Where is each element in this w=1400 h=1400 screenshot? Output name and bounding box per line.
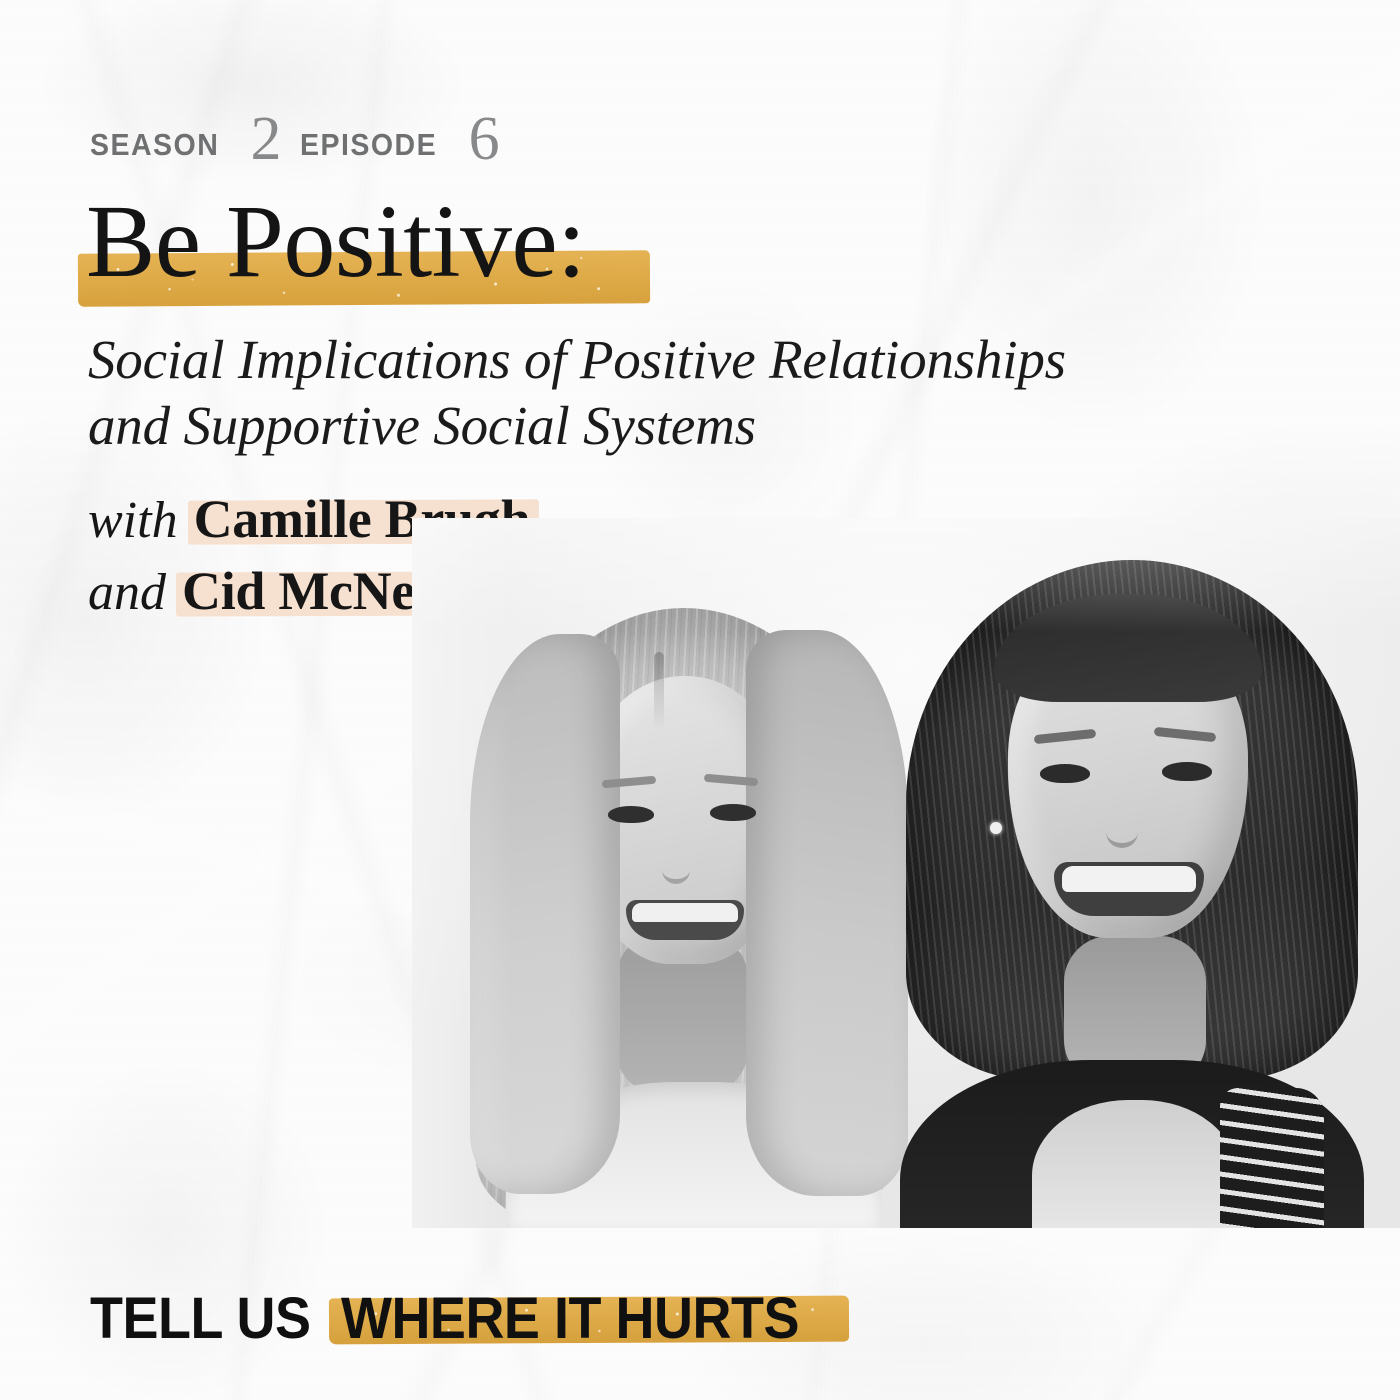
season-label: SEASON	[90, 127, 219, 163]
host-portrait-left	[448, 556, 918, 1228]
show-title-lockup: TELL US WHERE IT HURTS	[90, 1285, 834, 1352]
eye-left	[608, 806, 654, 823]
smiling-mouth	[1054, 862, 1204, 916]
eye-right	[710, 804, 756, 821]
earring	[990, 822, 1002, 834]
host-portrait-right	[882, 536, 1382, 1228]
host-connector: with	[88, 495, 178, 547]
episode-subtitle-line-2: and Supportive Social Systems	[88, 393, 1218, 459]
episode-cover: SEASON 2 EPISODE 6 Be Positive: Social I…	[0, 0, 1400, 1400]
eye-right	[1162, 762, 1212, 781]
episode-title: Be Positive:	[86, 190, 586, 294]
episode-title-block: Be Positive:	[86, 190, 586, 310]
eye-left	[1040, 764, 1090, 783]
host-connector: and	[88, 567, 166, 619]
blouse-shape	[1032, 1100, 1238, 1228]
hair-front-left	[470, 634, 620, 1194]
hair-part	[654, 652, 664, 730]
show-title-part-2-block: WHERE IT HURTS	[341, 1285, 833, 1352]
show-title-part-1: TELL US	[90, 1285, 311, 1352]
show-title-part-2: WHERE IT HURTS	[341, 1285, 799, 1352]
season-number: 2	[251, 108, 282, 170]
episode-number: 6	[469, 108, 500, 170]
patterned-top	[1220, 1088, 1324, 1228]
teeth	[632, 903, 738, 922]
nose-shape	[1106, 794, 1138, 848]
smiling-mouth	[626, 900, 744, 940]
nose-shape	[662, 836, 690, 884]
episode-subtitle: Social Implications of Positive Relation…	[88, 327, 1218, 459]
hosts-photo	[412, 518, 1400, 1228]
episode-label: EPISODE	[300, 127, 437, 163]
teeth	[1062, 866, 1196, 892]
episode-subtitle-line-1: Social Implications of Positive Relation…	[88, 329, 1066, 390]
season-episode-eyebrow: SEASON 2 EPISODE 6	[90, 104, 500, 166]
